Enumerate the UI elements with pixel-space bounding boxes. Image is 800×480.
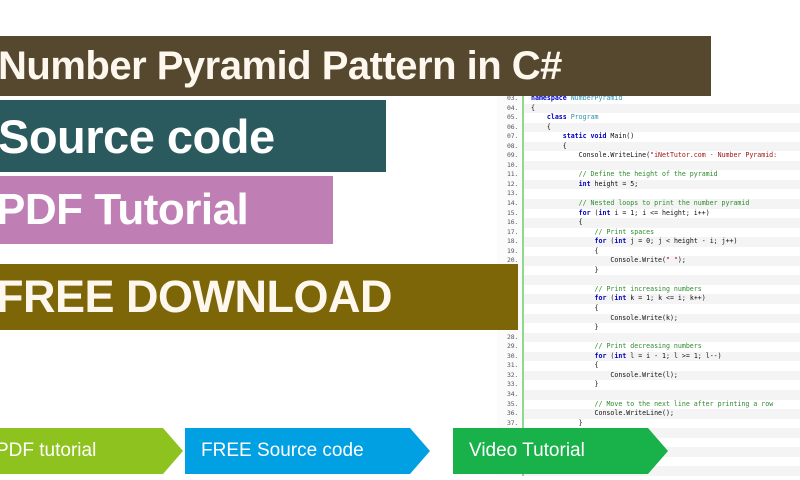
code-line: 21. } [497,266,800,276]
code-line-number: 18. [497,237,524,247]
code-editor-panel: 03.namespace NumberPyramid04.{05. class … [497,94,800,480]
code-line-source: int height = 5; [524,180,800,190]
code-line-source: Console.Write(k); [524,314,800,324]
code-line-source: // Print spaces [524,228,800,238]
code-line: 37. } [497,419,800,429]
code-line-source: static void Main() [524,132,800,142]
banner-free-download-label: FREE DOWNLOAD [0,271,392,323]
code-line: 04.{ [497,104,800,114]
code-line-number: 13. [497,189,524,199]
code-line-source: for (int k = 1; k <= i; k++) [524,294,800,304]
ribbon-video-tutorial-label: Video Tutorial [453,440,585,462]
code-line-number: 10. [497,161,524,171]
code-line: 29. // Print decreasing numbers [497,342,800,352]
code-line: 13. [497,189,800,199]
code-line: 07. static void Main() [497,132,800,142]
code-line-number: 11. [497,170,524,180]
code-line-number: 05. [497,113,524,123]
code-line-number: 28. [497,333,524,343]
code-line-number: 14. [497,199,524,209]
code-line: 32. Console.Write(l); [497,371,800,381]
code-line-source: for (int l = i - 1; l >= 1; l--) [524,352,800,362]
code-line-source: { [524,218,800,228]
code-line-source: } [524,380,800,390]
code-line: 35. // Move to the next line after print… [497,400,800,410]
ribbon-video-tutorial[interactable]: Video Tutorial [453,428,668,474]
code-line: 27. } [497,323,800,333]
code-line: 20. Console.Write(" "); [497,256,800,266]
code-line: 26. Console.Write(k); [497,314,800,324]
ribbon-pdf-tutorial[interactable]: PDF tutorial [0,428,183,474]
code-line: 11. // Define the height of the pyramid [497,170,800,180]
code-line: 30. for (int l = i - 1; l >= 1; l--) [497,352,800,362]
code-line-source: { [524,304,800,314]
banner-pdf-tutorial: PDF Tutorial [0,176,333,244]
code-line: 25. { [497,304,800,314]
code-line: 08. { [497,142,800,152]
code-line: 17. // Print spaces [497,228,800,238]
code-line-number: 19. [497,247,524,257]
code-line: 09. Console.WriteLine("iNetTutor.com - N… [497,151,800,161]
code-line-number: 36. [497,409,524,419]
code-line-source: } [524,419,800,429]
code-line: 10. [497,161,800,171]
code-line-number: 34. [497,390,524,400]
page-title: Number Pyramid Pattern in C# [0,44,562,89]
title-bar: Number Pyramid Pattern in C# [0,36,711,96]
code-line-source: } [524,323,800,333]
code-line: 18. for (int j = 0; j < height - i; j++) [497,237,800,247]
code-line-number: 16. [497,218,524,228]
code-line: 22. [497,275,800,285]
code-line-source: { [524,142,800,152]
code-line-number: 30. [497,352,524,362]
code-line-source: for (int i = 1; i <= height; i++) [524,209,800,219]
thumbnail-canvas: 03.namespace NumberPyramid04.{05. class … [0,0,800,480]
code-line-list: 03.namespace NumberPyramid04.{05. class … [497,94,800,476]
code-line-number: 35. [497,400,524,410]
code-line: 19. { [497,247,800,257]
code-line-source: { [524,104,800,114]
code-line: 34. [497,390,800,400]
code-line: 14. // Nested loops to print the number … [497,199,800,209]
code-line-source: { [524,123,800,133]
code-line-source: Console.Write(l); [524,371,800,381]
code-line-source: // Nested loops to print the number pyra… [524,199,800,209]
code-line-source: // Print decreasing numbers [524,342,800,352]
code-line-source: // Print increasing numbers [524,285,800,295]
code-line-number: 29. [497,342,524,352]
code-line-source: Console.WriteLine(); [524,409,800,419]
banner-source-code-label: Source code [0,109,275,164]
ribbon-free-source-code[interactable]: FREE Source code [185,428,430,474]
banner-pdf-tutorial-label: PDF Tutorial [0,185,248,235]
code-line: 23. // Print increasing numbers [497,285,800,295]
code-line-number: 08. [497,142,524,152]
code-line-source: } [524,266,800,276]
code-line-source: // Define the height of the pyramid [524,170,800,180]
code-line-number: 07. [497,132,524,142]
code-line-number: 31. [497,361,524,371]
code-line-number: 33. [497,380,524,390]
code-line-source: class Program [524,113,800,123]
banner-source-code: Source code [0,100,386,172]
code-line-number: 04. [497,104,524,114]
code-line-number: 15. [497,209,524,219]
code-line-source: Console.WriteLine("iNetTutor.com - Numbe… [524,151,800,161]
code-line-number: 09. [497,151,524,161]
ribbon-pdf-tutorial-label: PDF tutorial [0,440,96,462]
code-line-number: 32. [497,371,524,381]
code-line-source: { [524,247,800,257]
code-line-number: 06. [497,123,524,133]
code-line-number: 37. [497,419,524,429]
code-line-source: { [524,361,800,371]
code-line: 15. for (int i = 1; i <= height; i++) [497,209,800,219]
code-line-source: for (int j = 0; j < height - i; j++) [524,237,800,247]
code-line: 31. { [497,361,800,371]
code-line: 24. for (int k = 1; k <= i; k++) [497,294,800,304]
ribbon-free-source-code-label: FREE Source code [185,440,364,462]
code-line: 06. { [497,123,800,133]
code-line: 12. int height = 5; [497,180,800,190]
code-line: 28. [497,333,800,343]
code-line-number: 12. [497,180,524,190]
code-line: 36. Console.WriteLine(); [497,409,800,419]
code-line: 33. } [497,380,800,390]
code-line: 05. class Program [497,113,800,123]
banner-free-download: FREE DOWNLOAD [0,264,518,330]
code-line: 16. { [497,218,800,228]
code-line-source: Console.Write(" "); [524,256,800,266]
code-line-source: // Move to the next line after printing … [524,400,800,410]
code-line-number: 17. [497,228,524,238]
